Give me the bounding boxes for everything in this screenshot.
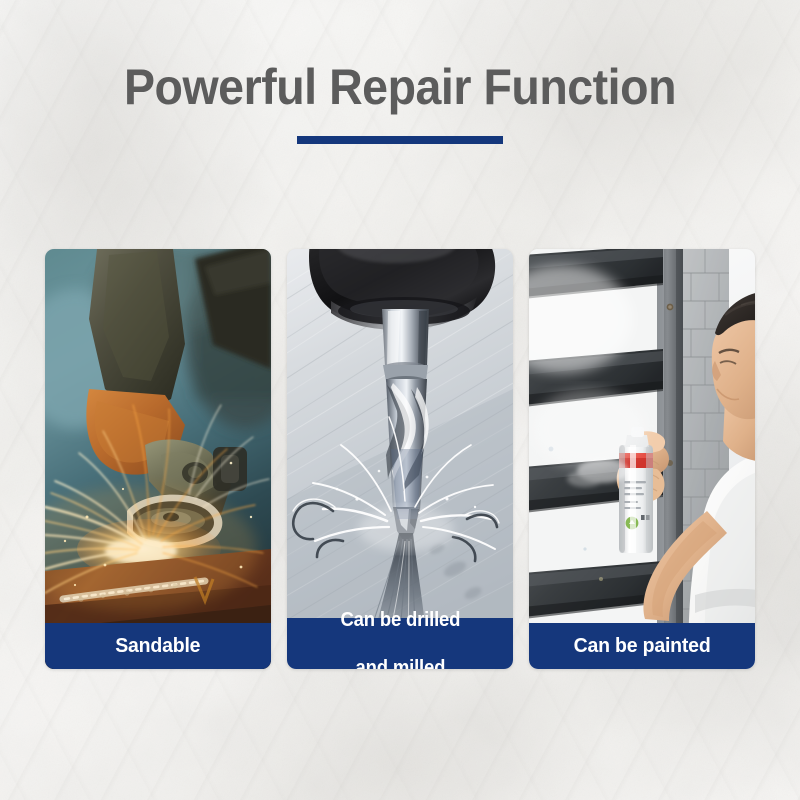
caption-line-1: Can be drilled <box>340 608 460 632</box>
heading-block: Powerful Repair Function <box>0 58 800 144</box>
milling-drill-bit-photo <box>287 249 513 669</box>
feature-cards-row: Sandable <box>45 249 755 669</box>
feature-card-sandable[interactable]: Sandable <box>45 249 271 669</box>
caption-line-2: and milled <box>340 656 460 670</box>
caption-text: Can be drilled and milled <box>337 608 463 670</box>
angle-grinder-sparks-photo <box>45 249 271 669</box>
page-title: Powerful Repair Function <box>28 58 772 116</box>
caption-text: Sandable <box>115 634 200 658</box>
caption-drilled-milled: Can be drilled and milled <box>287 618 513 669</box>
feature-card-painted[interactable]: Can be painted <box>529 249 755 669</box>
caption-text: Can be painted <box>574 634 711 658</box>
caption-painted: Can be painted <box>529 623 755 669</box>
caption-sandable: Sandable <box>45 623 271 669</box>
feature-card-drilled-milled[interactable]: Can be drilled and milled <box>287 249 513 669</box>
spray-painting-louvers-photo <box>529 249 755 669</box>
title-underline-rule <box>297 136 503 144</box>
